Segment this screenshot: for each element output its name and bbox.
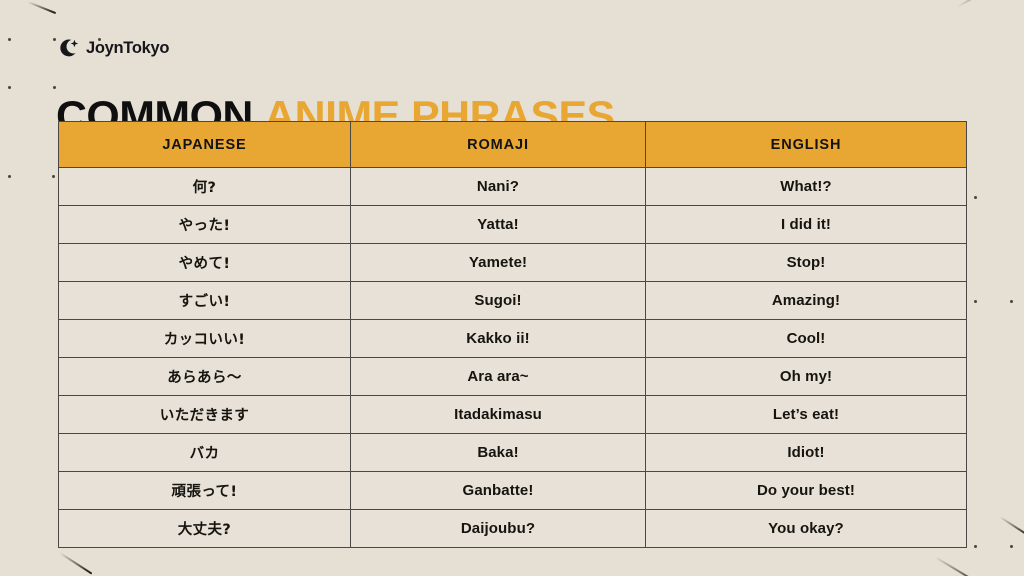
table-cell-romaji: Daijoubu? <box>351 510 646 548</box>
table-cell-romaji: Baka! <box>351 434 646 472</box>
table-header: JAPANESE ROMAJI ENGLISH <box>59 122 967 168</box>
table-cell-english: Stop! <box>646 244 967 282</box>
decorative-dot <box>974 196 977 199</box>
decorative-dot <box>53 86 56 89</box>
table-cell-japanese: あらあら〜 <box>59 358 351 396</box>
brand-lockup: JoynTokyo <box>58 37 169 59</box>
table-cell-japanese: バカ <box>59 434 351 472</box>
column-header-english: ENGLISH <box>646 122 967 168</box>
table-cell-romaji: Yamete! <box>351 244 646 282</box>
table-row: いただきますItadakimasuLet’s eat! <box>59 396 967 434</box>
brand-name: JoynTokyo <box>86 40 169 57</box>
decorative-dot <box>52 175 55 178</box>
table-row: やった!Yatta!I did it! <box>59 206 967 244</box>
table-cell-romaji: Ganbatte! <box>351 472 646 510</box>
table-cell-english: Oh my! <box>646 358 967 396</box>
table-cell-japanese: カッコいい! <box>59 320 351 358</box>
decorative-streak <box>59 552 92 574</box>
decorative-dot <box>53 38 56 41</box>
crescent-moon-sparkle-icon <box>58 37 80 59</box>
decorative-streak <box>957 0 1024 8</box>
table-header-row: JAPANESE ROMAJI ENGLISH <box>59 122 967 168</box>
table-cell-romaji: Yatta! <box>351 206 646 244</box>
table-cell-japanese: すごい! <box>59 282 351 320</box>
decorative-streak <box>999 516 1024 537</box>
table-cell-japanese: 頑張って! <box>59 472 351 510</box>
table-cell-english: Let’s eat! <box>646 396 967 434</box>
table-cell-english: I did it! <box>646 206 967 244</box>
table-row: 頑張って!Ganbatte!Do your best! <box>59 472 967 510</box>
table-cell-japanese: いただきます <box>59 396 351 434</box>
slide-canvas: JoynTokyo COMMON ANIME PHRASES JAPANESE … <box>0 0 1024 576</box>
table-row: やめて!Yamete!Stop! <box>59 244 967 282</box>
decorative-dot <box>8 175 11 178</box>
table-cell-romaji: Nani? <box>351 168 646 206</box>
table-cell-romaji: Kakko ii! <box>351 320 646 358</box>
table-cell-japanese: 大丈夫? <box>59 510 351 548</box>
decorative-dot <box>1010 545 1013 548</box>
table-cell-japanese: 何? <box>59 168 351 206</box>
table-row: バカBaka!Idiot! <box>59 434 967 472</box>
table-cell-english: What!? <box>646 168 967 206</box>
table-cell-japanese: やった! <box>59 206 351 244</box>
column-header-japanese: JAPANESE <box>59 122 351 168</box>
table-cell-romaji: Itadakimasu <box>351 396 646 434</box>
decorative-dot <box>8 38 11 41</box>
table-row: 何?Nani?What!? <box>59 168 967 206</box>
decorative-streak <box>934 556 986 576</box>
table-body: 何?Nani?What!?やった!Yatta!I did it!やめて!Yame… <box>59 168 967 548</box>
table-cell-english: Cool! <box>646 320 967 358</box>
table-row: カッコいい!Kakko ii!Cool! <box>59 320 967 358</box>
column-header-romaji: ROMAJI <box>351 122 646 168</box>
decorative-dot <box>974 300 977 303</box>
decorative-dot <box>8 86 11 89</box>
table-cell-japanese: やめて! <box>59 244 351 282</box>
table-row: すごい!Sugoi!Amazing! <box>59 282 967 320</box>
table-cell-english: Do your best! <box>646 472 967 510</box>
table-cell-romaji: Ara ara~ <box>351 358 646 396</box>
table-row: あらあら〜Ara ara~Oh my! <box>59 358 967 396</box>
decorative-streak <box>28 1 57 14</box>
table-cell-english: Idiot! <box>646 434 967 472</box>
decorative-dot <box>1010 300 1013 303</box>
table-cell-english: You okay? <box>646 510 967 548</box>
table-cell-english: Amazing! <box>646 282 967 320</box>
phrases-table: JAPANESE ROMAJI ENGLISH 何?Nani?What!?やった… <box>58 121 967 548</box>
table-row: 大丈夫?Daijoubu?You okay? <box>59 510 967 548</box>
decorative-dot <box>974 545 977 548</box>
table-cell-romaji: Sugoi! <box>351 282 646 320</box>
